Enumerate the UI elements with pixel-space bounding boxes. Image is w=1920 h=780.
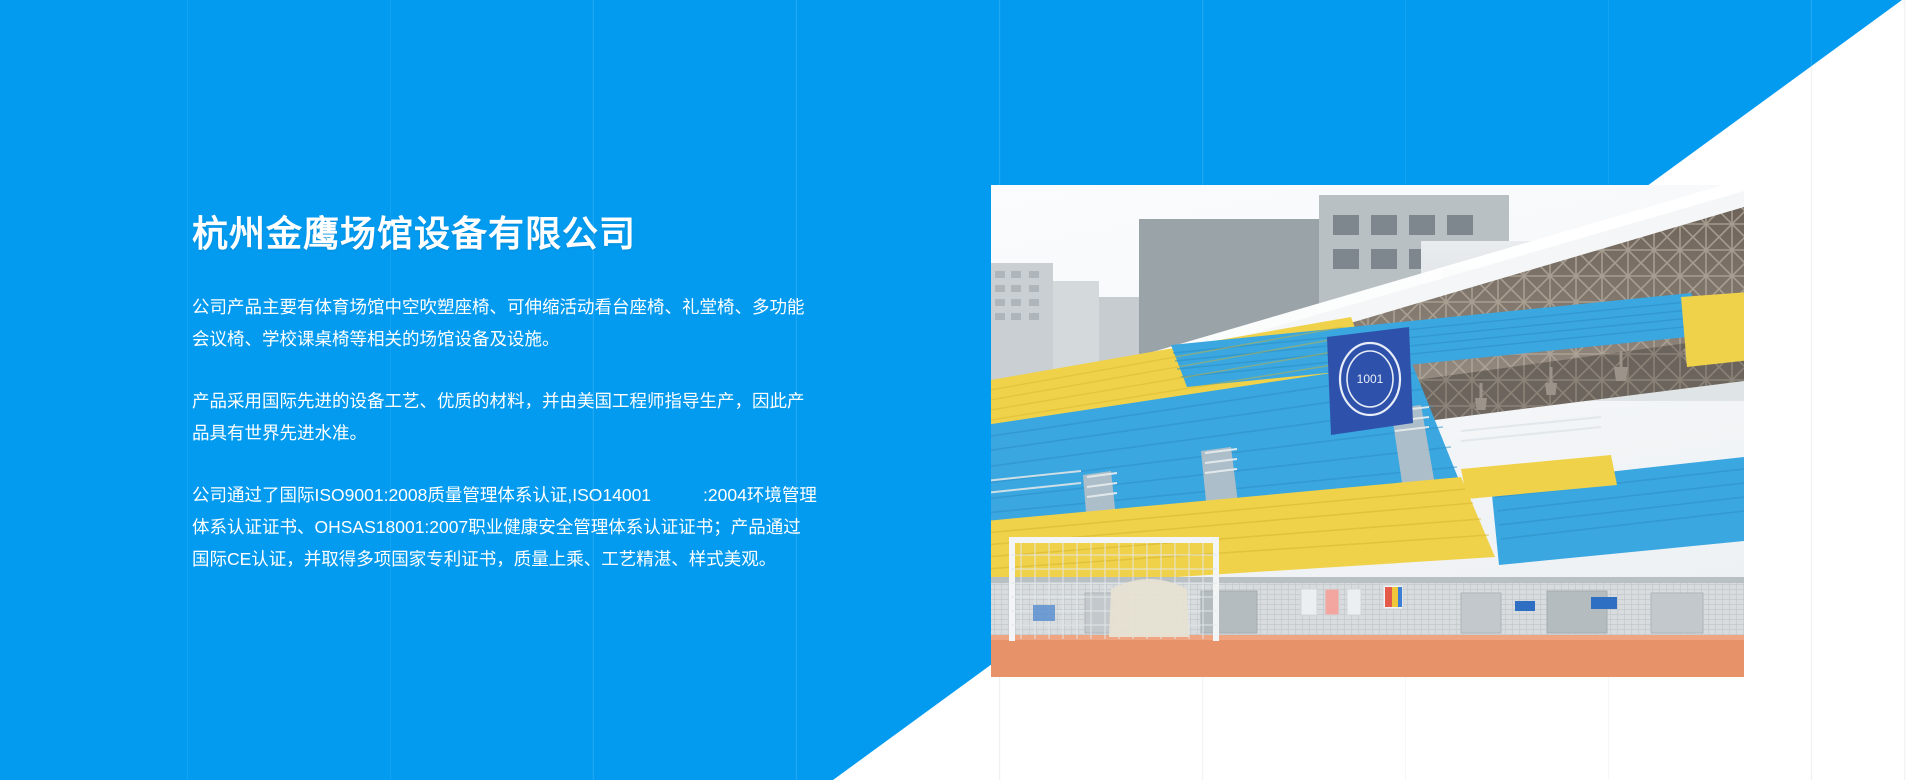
quality-paragraph: 产品采用国际先进的设备工艺、优质的材料，并由美国工程师指导生产，因此产品具有世界… [192, 385, 817, 449]
products-paragraph: 公司产品主要有体育场馆中空吹塑座椅、可伸缩活动看台座椅、礼堂椅、多功能会议椅、学… [192, 291, 817, 355]
hero-text-column: 杭州金鹰场馆设备有限公司 公司产品主要有体育场馆中空吹塑座椅、可伸缩活动看台座椅… [192, 212, 817, 575]
certification-text-part-1: 公司通过了国际ISO9001:2008质量管理体系认证,ISO14001 [192, 485, 651, 505]
svg-text:1001: 1001 [1357, 372, 1384, 386]
stadium-grandstand-photo: 1001 [991, 185, 1744, 677]
hero-banner-stage: 杭州金鹰场馆设备有限公司 公司产品主要有体育场馆中空吹塑座椅、可伸缩活动看台座椅… [0, 0, 1920, 780]
certification-paragraph: 公司通过了国际ISO9001:2008质量管理体系认证,ISO14001:200… [192, 479, 817, 575]
company-name-title: 杭州金鹰场馆设备有限公司 [192, 212, 817, 255]
